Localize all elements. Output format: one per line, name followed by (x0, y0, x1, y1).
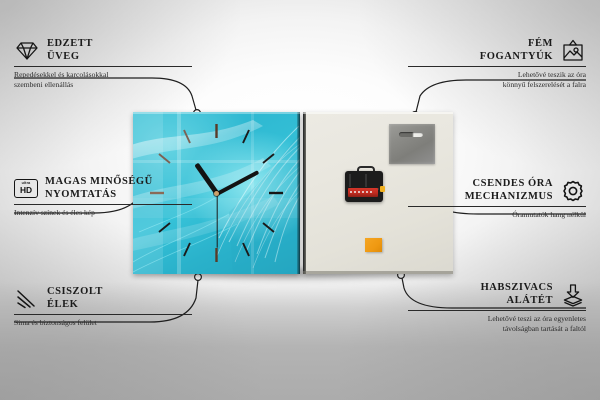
feature-metal-handles[interactable]: FÉM FOGANTYÚK Lehetővé teszik az óra kön… (408, 38, 586, 89)
feature-subtitle-line1: Repedésekkel és karcolásokkal (14, 70, 192, 80)
feature-title: CSENDES ÓRA MECHANIZMUS (465, 178, 553, 203)
clock-second-hand (216, 194, 217, 248)
mechanism-body (345, 171, 383, 202)
feature-title: HABSZIVACS ALÁTÉT (481, 282, 553, 307)
mechanism-seam-1 (349, 174, 351, 187)
metal-hanger-plate (389, 124, 435, 164)
feature-subtitle-line2: szembeni ellenállás (14, 80, 192, 90)
feature-title: EDZETT ÜVEG (47, 38, 93, 63)
feature-header: FÉM FOGANTYÚK (408, 38, 586, 63)
ultra-hd-icon: ultra HD (14, 179, 38, 198)
feature-header: CSENDES ÓRA MECHANIZMUS (408, 178, 586, 203)
picture-frame-hanger-icon (560, 39, 586, 63)
feature-polished-edges[interactable]: CSISZOLT ÉLEK Sima és biztonságos felüle… (14, 286, 192, 328)
ultra-hd-main-label: HD (20, 186, 32, 194)
feature-subtitle-line1: Óramutatók hang nélkül (408, 210, 586, 220)
feature-title: MAGAS MINŐSÉGŰ NYOMTATÁS (45, 176, 153, 201)
quiet-clock-mechanism (345, 166, 383, 202)
battery-positive-tip (380, 186, 385, 192)
feature-divider (14, 204, 192, 205)
feature-subtitle-line1: Intenzív színek és éles kép (14, 208, 192, 218)
feature-foam-spacer[interactable]: HABSZIVACS ALÁTÉT Lehetővé teszi az óra … (408, 282, 586, 333)
feature-divider (14, 66, 192, 67)
feature-subtitle-line2: távolságban tartását a faltól (408, 324, 586, 334)
infographic-canvas: EDZETT ÜVEG Repedésekkel és karcolásokka… (0, 0, 600, 400)
feature-header: CSISZOLT ÉLEK (14, 286, 192, 311)
arrow-onto-pad-icon (560, 283, 586, 307)
foam-spacer-pad (365, 238, 382, 252)
mechanism-seam-2 (365, 174, 367, 187)
feature-divider (408, 310, 586, 311)
clock-back-left-edge (303, 112, 306, 274)
feature-subtitle-line1: Sima és biztonságos felület (14, 318, 192, 328)
feature-tempered-glass[interactable]: EDZETT ÜVEG Repedésekkel és karcolásokka… (14, 38, 192, 89)
battery-label-stripes (350, 191, 374, 193)
feature-divider (408, 66, 586, 67)
feature-header: EDZETT ÜVEG (14, 38, 192, 63)
clock-front-top-edge (133, 112, 300, 114)
feature-header: HABSZIVACS ALÁTÉT (408, 282, 586, 307)
hanger-keyhole-slot (399, 132, 423, 137)
clock-front-right-edge (297, 112, 300, 274)
feature-divider (14, 314, 192, 315)
clock-back-bottom-edge (303, 271, 453, 274)
gear-icon (560, 179, 586, 203)
feature-subtitle-line1: Lehetővé teszi az óra egyenletes (408, 314, 586, 324)
clock-back-top-edge (303, 112, 453, 114)
feature-high-quality-print[interactable]: ultra HD MAGAS MINŐSÉGŰ NYOMTATÁS Intenz… (14, 176, 192, 218)
feature-quiet-mechanism[interactable]: CSENDES ÓRA MECHANIZMUS Óramutatók hang … (408, 178, 586, 220)
feature-subtitle-line2: könnyű felszerelését a falra (408, 80, 586, 90)
feature-title: FÉM FOGANTYÚK (480, 38, 553, 63)
polished-edges-icon (14, 288, 40, 310)
diamond-icon (14, 40, 40, 62)
feature-subtitle-line1: Lehetővé teszik az óra (408, 70, 586, 80)
feature-title: CSISZOLT ÉLEK (47, 286, 103, 311)
clock-center-cap (214, 191, 219, 196)
feature-divider (408, 206, 586, 207)
feature-header: ultra HD MAGAS MINŐSÉGŰ NYOMTATÁS (14, 176, 192, 201)
